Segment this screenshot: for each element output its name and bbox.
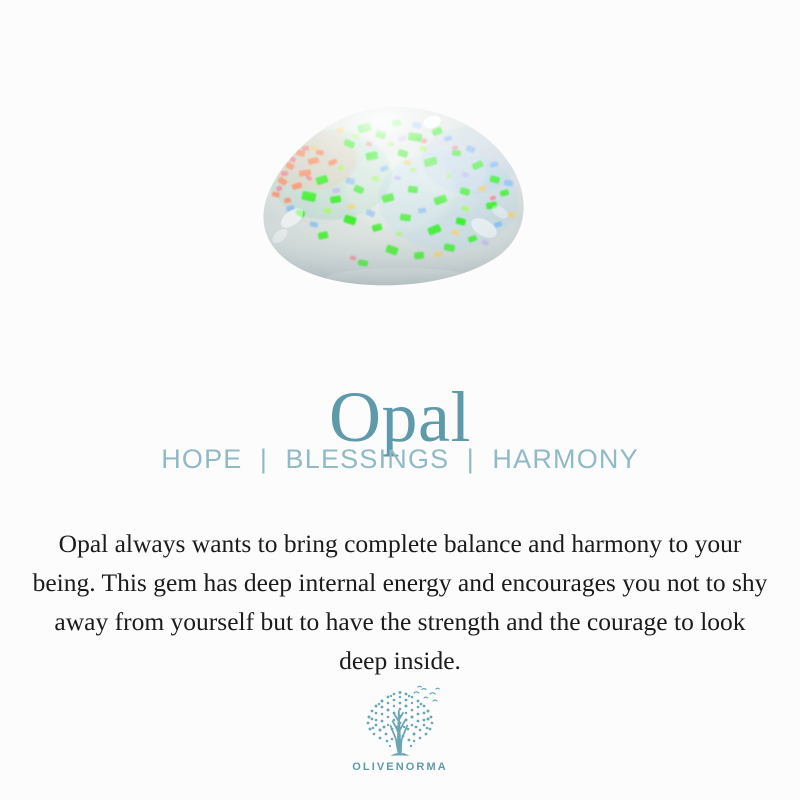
gemstone-info-card: Opal HOPE | BLESSINGS | HARMONY Opal alw… <box>0 0 800 800</box>
description-text: Opal always wants to bring complete bala… <box>28 524 772 680</box>
olive-tree-icon <box>354 684 446 758</box>
page-title: Opal <box>0 381 800 453</box>
gem-image-container <box>0 0 800 300</box>
gem-rim <box>263 107 523 285</box>
opal-cabochon-illustration <box>0 0 800 300</box>
keywords-line: HOPE | BLESSINGS | HARMONY <box>0 444 800 475</box>
brand-logo: OLIVENORMA <box>0 684 800 773</box>
brand-wordmark: OLIVENORMA <box>352 761 448 773</box>
